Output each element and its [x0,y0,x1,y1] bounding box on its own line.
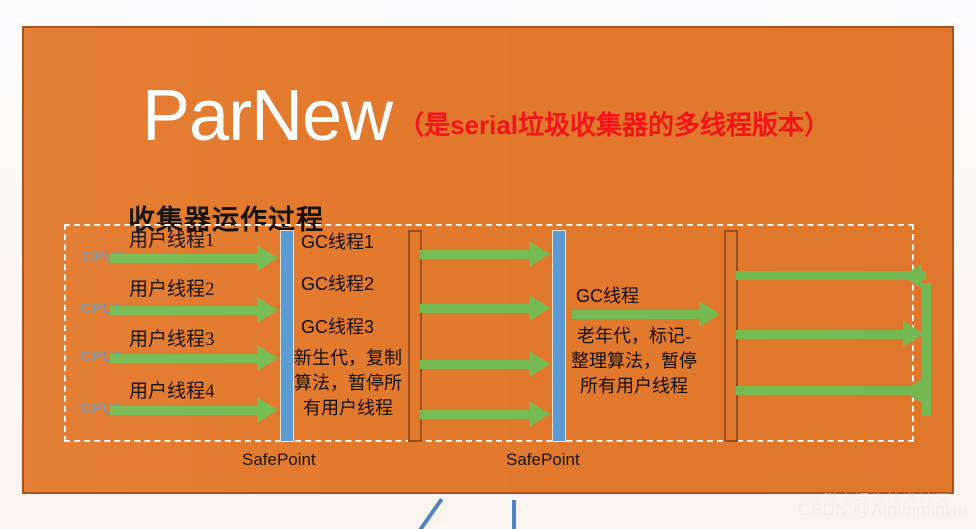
slide-title: ParNew （是serial垃圾收集器的多线程版本） [142,80,830,152]
gc-thread-label-old: GC线程 [576,282,639,308]
slide-title-main: ParNew [142,80,392,152]
gc-thread-label-young-2: GC线程3 [301,313,374,339]
user-thread-label-3: 用户线程4 [129,376,215,403]
resume-bar-bottom [736,386,926,395]
merge-bracket-head-bottom [902,379,922,403]
gc-thread-label-young-1: GC线程2 [301,270,374,296]
resume-bar-top [736,271,926,280]
user-thread-arrow-1 [110,306,258,315]
stray-diagonal-stroke [417,498,443,529]
slide-title-annotation: （是serial垃圾收集器的多线程版本） [398,105,830,142]
user-thread-label-0: 用户线程1 [129,225,215,252]
user-thread-arrow-2 [110,354,258,363]
thread-merge-bracket [922,283,931,416]
young-gen-phase-text: 新生代，复制算法，暂停所有用户线程 [286,346,410,420]
old-gen-phase-text: 老年代，标记-整理算法，暂停所有用户线程 [570,324,698,398]
safepoint-caption-2: SafePoint [506,450,580,470]
user-thread-label-1: 用户线程2 [129,274,215,301]
watermark-csdn: CSDN @AiminminHu [798,500,968,520]
resume-arrow-middle [736,330,904,339]
user-thread-arrow-0 [110,254,258,263]
screenshot-root: ParNew （是serial垃圾收集器的多线程版本） 收集器运作过程 CPU0… [0,0,976,529]
presentation-slide: ParNew （是serial垃圾收集器的多线程版本） 收集器运作过程 CPU0… [22,26,954,494]
safepoint-caption-1: SafePoint [242,450,316,470]
safepoint-pillar-2 [552,230,566,442]
gc-thread-label-young-0: GC线程1 [301,228,374,254]
user-thread-label-2: 用户线程3 [129,324,215,351]
gc-work-arrow-3 [420,410,530,419]
gc-work-arrow-1 [420,304,530,313]
user-thread-arrow-3 [110,406,258,415]
stray-vertical-stroke [512,500,516,529]
merge-bracket-head-top [902,264,922,288]
gc-work-arrow-0 [420,250,530,259]
old-gen-gc-arrow [572,310,700,319]
gc-work-arrow-2 [420,360,530,369]
